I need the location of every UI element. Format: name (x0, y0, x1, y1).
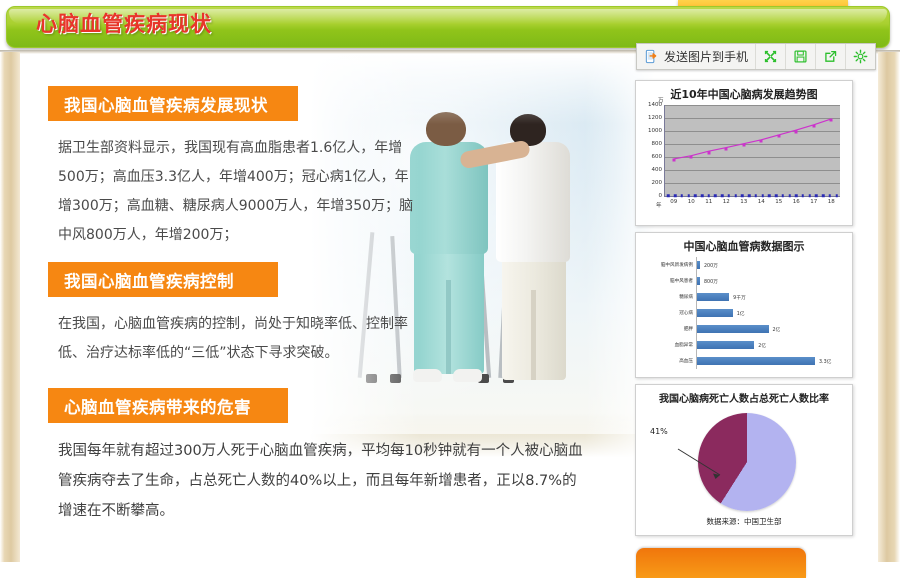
line-chart-point (707, 151, 710, 154)
fullscreen-button[interactable] (756, 44, 786, 69)
line-chart-baseline-point (687, 194, 690, 197)
bar-chart-category-label: 高血压 (679, 358, 693, 364)
chart-card-bar: 中国心脑血管病数据图示 脑中风新发病例200万脑中风患者800万糖尿病9千万冠心… (635, 232, 853, 378)
bar-chart-row: 冠心病1亿 (697, 309, 815, 317)
bar-chart-value-label: 3.3亿 (819, 358, 831, 365)
bar-chart-category-label: 血脂异常 (675, 342, 693, 348)
line-chart-x-tick: 09 (670, 199, 677, 205)
section-body-harm: 我国每年就有超过300万人死于心脑血管疾病，平均每10秒钟就有一个人被心脑血管疾… (58, 436, 588, 526)
bar-chart-category-label: 糖尿病 (679, 294, 693, 300)
bar-chart-value-label: 9千万 (733, 294, 746, 301)
bar-chart-category-label: 脑中风患者 (670, 278, 693, 284)
line-chart-y-tick: 1400 (648, 102, 662, 108)
bar-chart-category-label: 脑中风新发病例 (661, 262, 693, 268)
section-heading-control: 我国心脑血管疾病控制 (48, 262, 278, 297)
bar-chart-bar (697, 325, 769, 333)
line-chart-y-tick: 0 (659, 193, 663, 199)
frame-right-edge (878, 52, 900, 562)
bar-chart-value-label: 800万 (704, 278, 718, 285)
bar-chart-row: 血脂异常2亿 (697, 341, 815, 349)
line-chart-baseline-point (822, 194, 825, 197)
line-chart-baseline-point (701, 194, 704, 197)
line-chart-point (777, 135, 780, 138)
line-chart-y-tick: 1200 (648, 115, 662, 121)
send-to-phone-button[interactable]: 发送图片到手机 (637, 44, 756, 69)
line-chart-baseline-point (708, 194, 711, 197)
line-chart-baseline-point (681, 194, 684, 197)
line-chart-x-tick: 12 (723, 199, 730, 205)
line-chart-point (672, 159, 675, 162)
line-chart-point (725, 148, 728, 151)
line-chart-baseline-point (748, 194, 751, 197)
line-chart-baseline-point (714, 194, 717, 197)
bar-chart-row: 脑中风新发病例200万 (697, 261, 815, 269)
line-chart-baseline-point (829, 194, 832, 197)
pie-chart-source: 数据来源：中国卫生部 (636, 516, 852, 527)
line-chart-point (812, 125, 815, 128)
line-chart-y-tick: 600 (652, 154, 663, 160)
bar-chart-bar (697, 293, 729, 301)
section-heading-development: 我国心脑血管疾病发展现状 (48, 86, 298, 121)
share-button[interactable] (816, 44, 846, 69)
bar-chart-value-label: 2亿 (773, 326, 781, 333)
bar-chart-value-label: 1亿 (737, 310, 745, 317)
save-button[interactable] (786, 44, 816, 69)
pie-callout-line (676, 445, 728, 483)
line-chart-baseline-point (694, 194, 697, 197)
line-chart-title: 近10年中国心脑病发展趋势图 (636, 86, 852, 102)
slide-canvas: 我国心脑血管疾病发展现状 据卫生部资料显示，我国现有高血脂患者1.6亿人，年增5… (20, 54, 878, 562)
line-chart-baseline-point (755, 194, 758, 197)
patient-walker-photo (310, 54, 655, 462)
line-chart-x-tick: 17 (810, 199, 817, 205)
bar-chart-bar (697, 277, 700, 285)
section-body-development: 据卫生部资料显示，我国现有高血脂患者1.6亿人，年增500万；高血压3.3亿人，… (58, 134, 418, 250)
line-chart-series (665, 105, 840, 196)
bar-chart-bar (697, 261, 700, 269)
line-chart-x-tick: 16 (793, 199, 800, 205)
line-chart-y-tick: 400 (652, 167, 663, 173)
line-chart-y-tick: 200 (652, 180, 663, 186)
settings-button[interactable] (846, 44, 875, 69)
bar-chart-row: 肥胖2亿 (697, 325, 815, 333)
settings-gear-icon (853, 49, 868, 64)
share-icon (823, 49, 838, 64)
line-chart-x-tick: 13 (740, 199, 747, 205)
line-chart-baseline-point (802, 194, 805, 197)
save-icon (793, 49, 808, 64)
image-toolbar[interactable]: 发送图片到手机 (636, 43, 876, 70)
line-chart-baseline-point (761, 194, 764, 197)
line-chart-point (760, 140, 763, 143)
line-chart-baseline-point (768, 194, 771, 197)
line-chart-x-tick: 10 (688, 199, 695, 205)
fullscreen-icon (763, 49, 778, 64)
frame-left-edge (0, 52, 20, 562)
bar-chart-row: 糖尿病9千万 (697, 293, 815, 301)
line-chart-x-tick: 15 (775, 199, 782, 205)
line-chart-x-tick: 18 (828, 199, 835, 205)
line-chart-baseline-point (734, 194, 737, 197)
bar-chart-bar (697, 341, 754, 349)
line-chart-x-tick: 14 (758, 199, 765, 205)
line-chart-baseline-point (674, 194, 677, 197)
chart-card-line: 近10年中国心脑病发展趋势图 万 年 020040060080010001200… (635, 80, 853, 226)
send-to-phone-label: 发送图片到手机 (664, 48, 748, 65)
bottom-orange-tab (636, 548, 806, 578)
line-chart-point (795, 130, 798, 133)
pie-chart-title: 我国心脑病死亡人数占总死亡人数比率 (636, 390, 852, 405)
line-chart-x-unit: 年 (656, 201, 662, 209)
bar-chart-title: 中国心脑血管病数据图示 (636, 238, 852, 254)
chart-card-pie: 我国心脑病死亡人数占总死亡人数比率 41% 数据来源：中国卫生部 (635, 384, 853, 536)
line-chart-y-tick: 800 (652, 141, 663, 147)
bar-chart-category-label: 冠心病 (679, 310, 693, 316)
bar-chart-bar (697, 309, 733, 317)
bar-chart-value-label: 2亿 (758, 342, 766, 349)
page-title: 心脑血管疾病现状 (36, 8, 212, 38)
line-chart-baseline-point (808, 194, 811, 197)
line-chart-baseline-point (788, 194, 791, 197)
phone-send-icon (644, 49, 659, 64)
line-chart-baseline-point (741, 194, 744, 197)
bar-chart-value-label: 200万 (704, 262, 718, 269)
line-chart-point (742, 144, 745, 147)
section-body-control: 在我国，心脑血管疾病的控制，尚处于知晓率低、控制率低、治疗达标率低的“三低”状态… (58, 310, 408, 368)
line-chart-baseline-point (721, 194, 724, 197)
pie-chart-data-label: 41% (650, 427, 668, 436)
line-chart-baseline-point (775, 194, 778, 197)
line-chart-baseline-point (835, 194, 838, 197)
bar-chart-bar (697, 357, 815, 365)
line-chart-baseline-point (728, 194, 731, 197)
bar-chart-row: 脑中风患者800万 (697, 277, 815, 285)
bar-chart-category-label: 肥胖 (684, 326, 693, 332)
bar-chart-plot: 脑中风新发病例200万脑中风患者800万糖尿病9千万冠心病1亿肥胖2亿血脂异常2… (696, 257, 814, 369)
bar-chart-row: 高血压3.3亿 (697, 357, 815, 365)
line-chart-point (690, 156, 693, 159)
line-chart-baseline-point (795, 194, 798, 197)
line-chart-baseline-point (667, 194, 670, 197)
line-chart-plot: 0200400600800100012001400091011121314151… (664, 105, 840, 197)
line-chart-baseline-point (815, 194, 818, 197)
line-chart-y-tick: 1000 (648, 128, 662, 134)
page-frame: 心脑血管疾病现状 发送图片到手机 (0, 0, 900, 562)
line-chart-x-tick: 11 (705, 199, 712, 205)
line-chart-point (830, 119, 833, 122)
section-heading-harm: 心脑血管疾病带来的危害 (48, 388, 288, 423)
line-chart-baseline-point (782, 194, 785, 197)
